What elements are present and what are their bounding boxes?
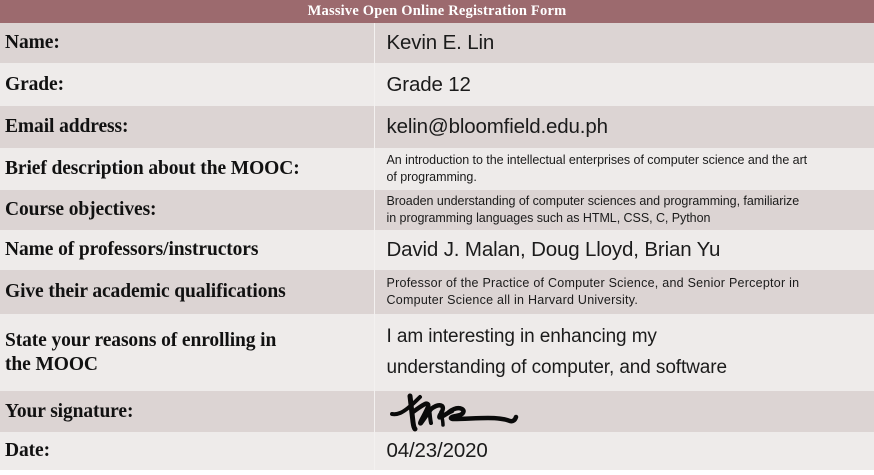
- field-label-reasons: State your reasons of enrolling in the M…: [0, 314, 374, 391]
- field-label-qualifications: Give their academic qualifications: [0, 270, 374, 314]
- field-label-course-objectives: Course objectives:: [0, 190, 374, 230]
- field-label-brief-description: Brief description about the MOOC:: [0, 148, 374, 190]
- page-title: Massive Open Online Registration Form: [308, 3, 567, 19]
- field-label-name: Name:: [0, 23, 374, 63]
- field-value-brief-description-cell[interactable]: An introduction to the intellectual ente…: [374, 148, 874, 190]
- table-body: Name: Kevin E. Lin Grade: Grade 12 Email…: [0, 23, 874, 470]
- field-value-signature-cell[interactable]: [374, 391, 874, 432]
- field-value-grade: Grade 12: [387, 72, 869, 98]
- field-value-professors-cell[interactable]: David J. Malan, Doug Lloyd, Brian Yu: [374, 230, 874, 270]
- table-row: Name of professors/instructors David J. …: [0, 230, 874, 270]
- table-row: Name: Kevin E. Lin: [0, 23, 874, 63]
- table-row: Give their academic qualifications Profe…: [0, 270, 874, 314]
- field-value-brief-description: An introduction to the intellectual ente…: [387, 152, 869, 186]
- field-value-date-cell[interactable]: 04/23/2020: [374, 432, 874, 470]
- table-row: Brief description about the MOOC: An int…: [0, 148, 874, 190]
- field-label-grade: Grade:: [0, 63, 374, 106]
- field-value-reasons: I am interesting in enhancing my underst…: [387, 322, 869, 384]
- table-row: Your signature:: [0, 391, 874, 432]
- table-row: Grade: Grade 12: [0, 63, 874, 106]
- field-value-professors: David J. Malan, Doug Lloyd, Brian Yu: [387, 237, 869, 263]
- field-value-course-objectives: Broaden understanding of computer scienc…: [387, 193, 869, 227]
- field-value-qualifications-cell[interactable]: Professor of the Practice of Computer Sc…: [374, 270, 874, 314]
- registration-form: Massive Open Online Registration Form Na…: [0, 0, 874, 475]
- field-label-email: Email address:: [0, 106, 374, 148]
- field-value-date: 04/23/2020: [387, 438, 869, 464]
- form-title-bar: Massive Open Online Registration Form: [0, 0, 874, 23]
- field-label-professors: Name of professors/instructors: [0, 230, 374, 270]
- table-row: Date: 04/23/2020: [0, 432, 874, 470]
- field-value-email-cell[interactable]: kelin@bloomfield.edu.ph: [374, 106, 874, 148]
- bottom-margin: [0, 470, 874, 475]
- signature-mark: [389, 392, 524, 432]
- field-value-qualifications: Professor of the Practice of Computer Sc…: [387, 275, 869, 309]
- signature-area[interactable]: [387, 391, 869, 432]
- field-value-email: kelin@bloomfield.edu.ph: [387, 114, 869, 140]
- field-value-reasons-cell[interactable]: I am interesting in enhancing my underst…: [374, 314, 874, 391]
- field-value-course-objectives-cell[interactable]: Broaden understanding of computer scienc…: [374, 190, 874, 230]
- field-value-name: Kevin E. Lin: [387, 30, 869, 56]
- table-row: Email address: kelin@bloomfield.edu.ph: [0, 106, 874, 148]
- field-value-name-cell[interactable]: Kevin E. Lin: [374, 23, 874, 63]
- field-value-grade-cell[interactable]: Grade 12: [374, 63, 874, 106]
- table-row: Course objectives: Broaden understanding…: [0, 190, 874, 230]
- field-label-signature: Your signature:: [0, 391, 374, 432]
- table-row: State your reasons of enrolling in the M…: [0, 314, 874, 391]
- registration-table: Name: Kevin E. Lin Grade: Grade 12 Email…: [0, 23, 874, 470]
- field-label-date: Date:: [0, 432, 374, 470]
